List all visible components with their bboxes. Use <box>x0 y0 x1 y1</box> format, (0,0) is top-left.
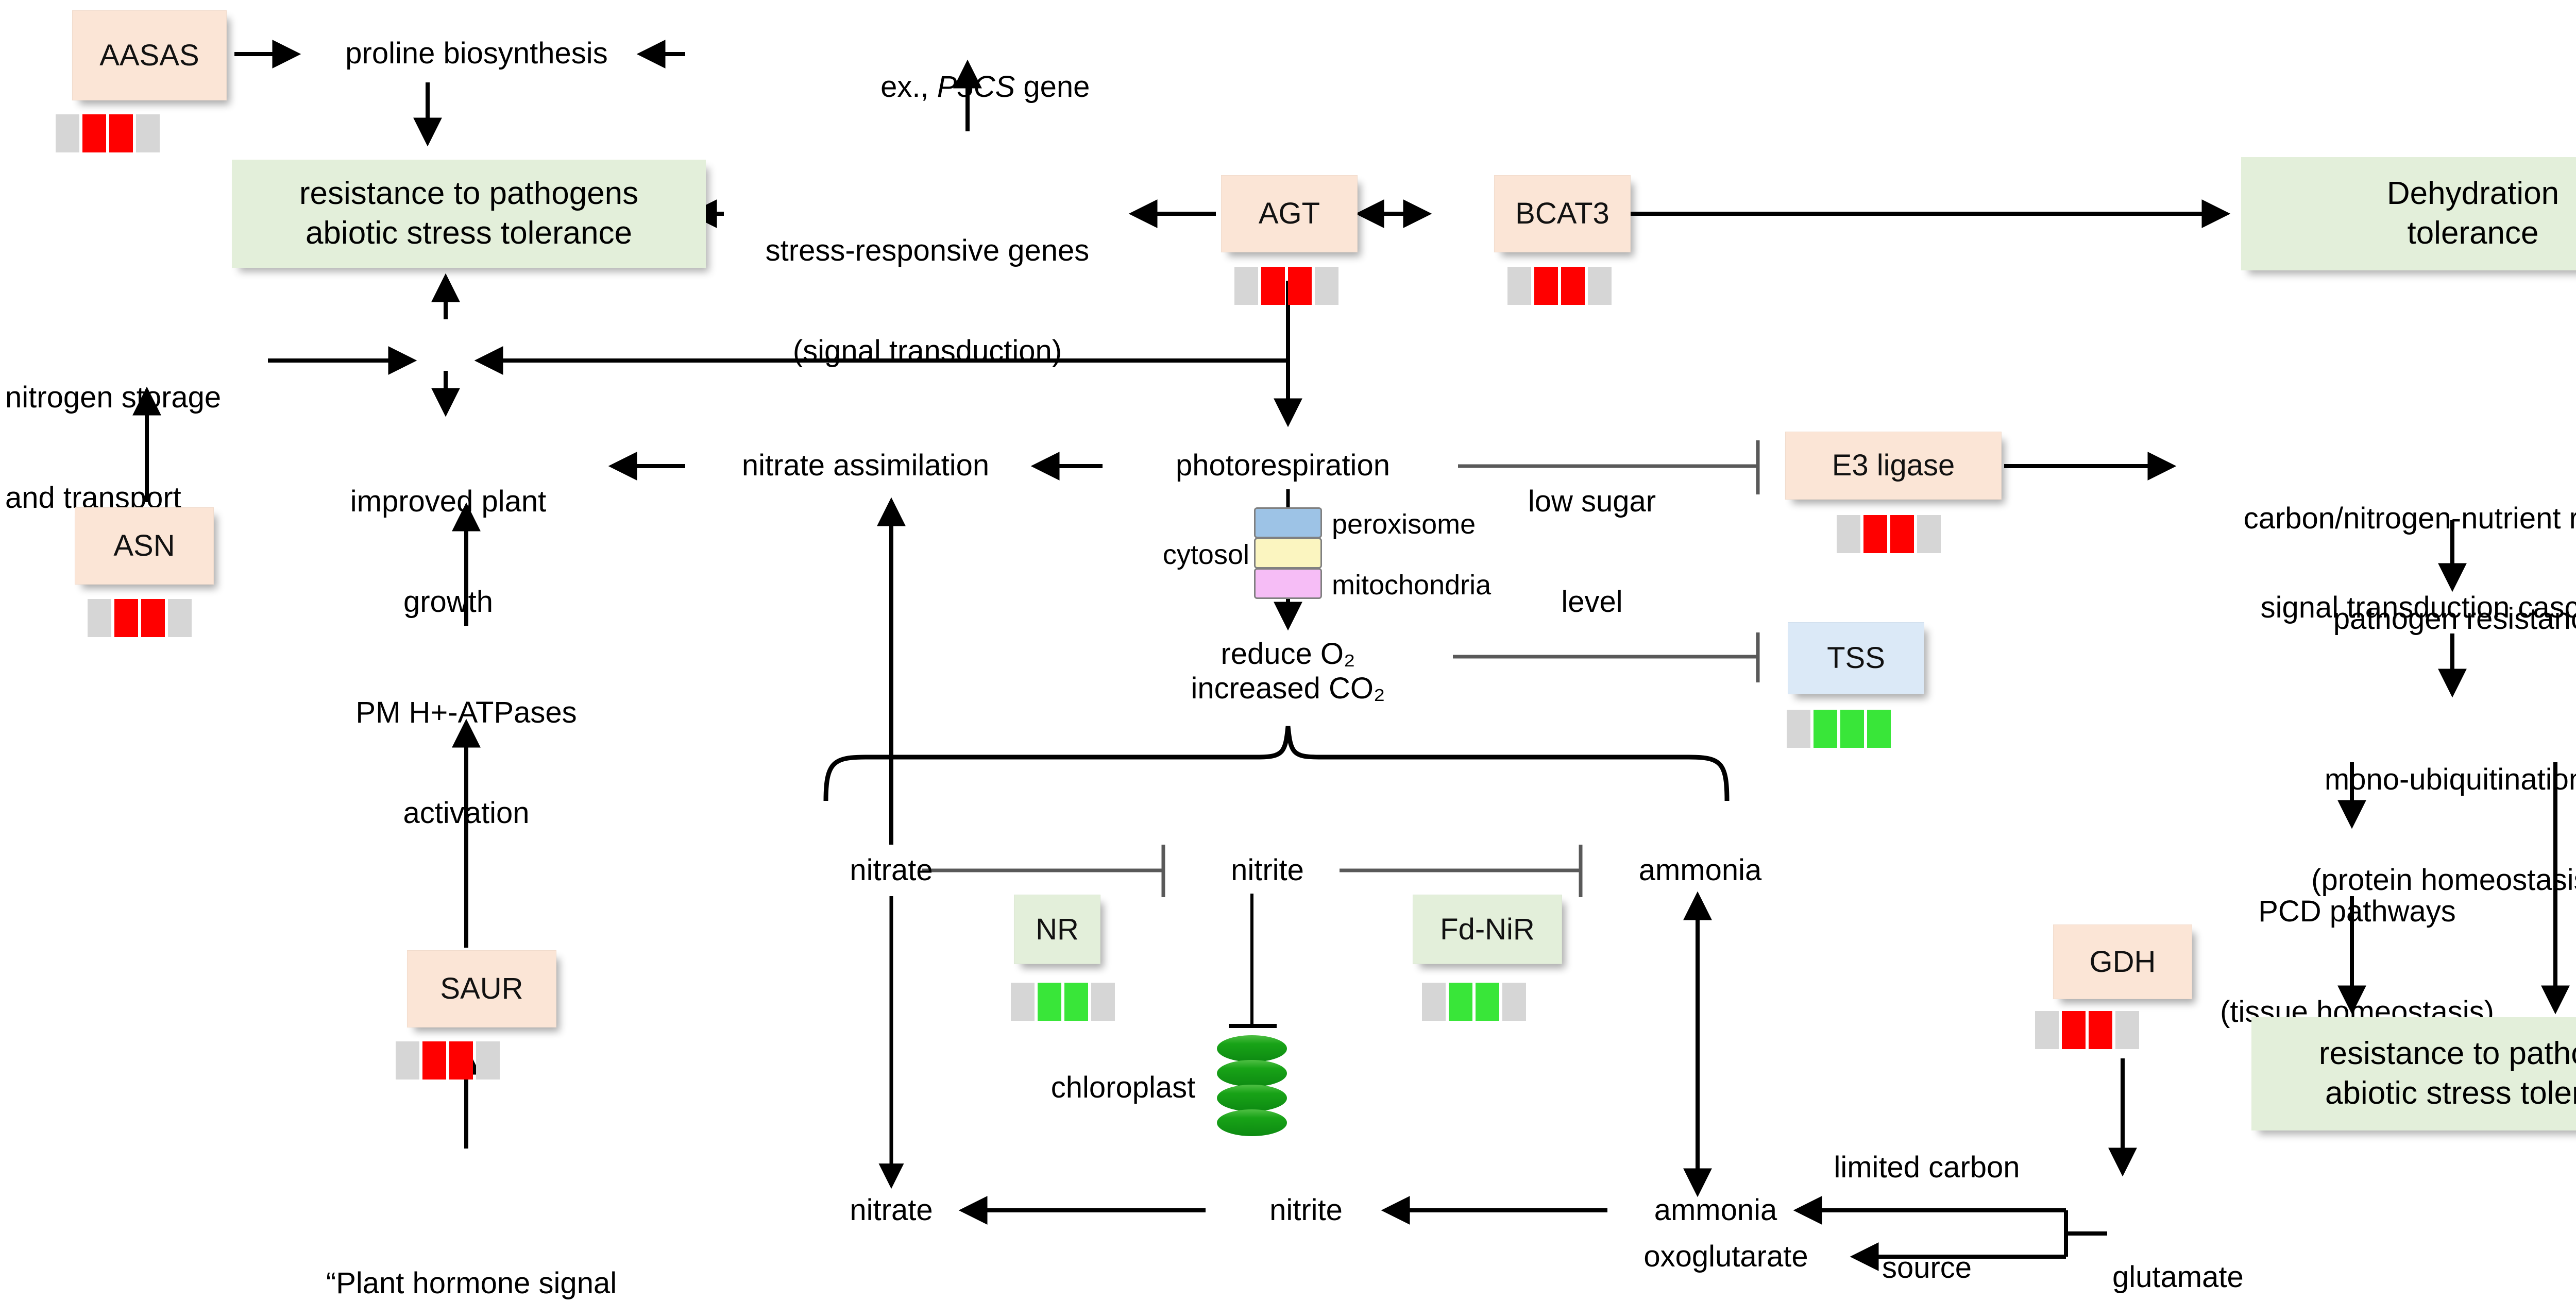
expression-strip-nr <box>1011 983 1115 1021</box>
label-plant-hormone-pathway: “Plant hormone signal transduction” path… <box>289 1200 654 1302</box>
swatch-cell <box>476 1041 500 1080</box>
chloroplast-icon <box>1217 1035 1287 1144</box>
gene-box-tss[interactable]: TSS <box>1788 622 1924 694</box>
growth-line1: improved plant <box>319 485 577 519</box>
nstorage-line1: nitrogen storage <box>5 381 278 415</box>
expression-strip-aasas <box>56 114 160 152</box>
pcd-line1: PCD pathways <box>2154 895 2561 929</box>
swatch-cell <box>136 114 160 152</box>
gene-box-gdh[interactable]: GDH <box>2053 924 2192 999</box>
swatch-cell <box>2062 1011 2086 1049</box>
swatch-cell <box>1917 515 1941 553</box>
grana-disc <box>1217 1035 1287 1062</box>
swatch-cell <box>1502 983 1526 1021</box>
label-stress-responsive-genes: stress-responsive genes (signal transduc… <box>737 167 1118 435</box>
resistance-b-line1: resistance to pathogens <box>2319 1034 2576 1074</box>
brace-co2-to-nitrogen-row <box>826 726 1727 801</box>
swatch-cell <box>2115 1011 2139 1049</box>
grana-disc <box>1217 1060 1287 1087</box>
label-nitrate-mid: nitrate <box>796 854 987 887</box>
grana-disc <box>1217 1085 1287 1111</box>
swatch-cell <box>396 1041 419 1080</box>
gene-box-saur[interactable]: SAUR <box>407 950 556 1027</box>
swatch-cell <box>2035 1011 2059 1049</box>
gene-box-e3-ligase[interactable]: E3 ligase <box>1785 432 2002 500</box>
growth-line2: growth <box>319 586 577 619</box>
swatch-cell <box>1261 267 1285 305</box>
hormone-line1: “Plant hormone signal <box>289 1267 654 1300</box>
label-signal-transduction-cascades: signal transduction cascades <box>2154 591 2576 625</box>
outcome-box-resistance-bottom: resistance to pathogens abiotic stress t… <box>2251 1017 2576 1130</box>
legend-box-cytosol <box>1254 538 1322 569</box>
glutamate-line1: glutamate <box>2112 1261 2401 1294</box>
swatch-cell <box>141 599 165 637</box>
gene-box-asn[interactable]: ASN <box>75 507 214 585</box>
expression-strip-asn <box>88 599 192 637</box>
swatch-cell <box>1476 983 1499 1021</box>
label-nitrite-bottom: nitrite <box>1218 1194 1394 1227</box>
swatch-cell <box>1315 267 1338 305</box>
swatch-cell <box>114 599 138 637</box>
label-low-sugar-level: low sugar level <box>1484 418 1700 686</box>
swatch-cell <box>1038 983 1061 1021</box>
expression-strip-bcat3 <box>1507 267 1612 305</box>
ubi-line1: mono-ubiquitination <box>2159 763 2576 797</box>
label-ammonia-mid: ammonia <box>1597 854 1803 887</box>
label-cytosol: cytosol <box>1110 539 1249 570</box>
swatch-cell <box>88 599 111 637</box>
carbon-line1: limited carbon <box>1793 1151 2061 1185</box>
label-p5cs-gene: ex., P5CS gene <box>819 37 1118 138</box>
label-glutamate-deamination: glutamate deamination <box>2112 1194 2401 1302</box>
resistance-b-line2: abiotic stress tolerance <box>2319 1074 2576 1113</box>
swatch-cell <box>56 114 79 152</box>
grana-disc <box>1217 1109 1287 1136</box>
label-ammonia-bottom: ammonia <box>1613 1194 1819 1227</box>
swatch-cell <box>1422 983 1446 1021</box>
dehydration-line1: Dehydration <box>2387 174 2559 214</box>
expression-strip-e3-ligase <box>1837 515 1941 553</box>
swatch-cell <box>1064 983 1088 1021</box>
label-chloroplast: chloroplast <box>1020 1071 1226 1105</box>
srg-line2: (signal transduction) <box>737 335 1118 368</box>
gene-box-nr[interactable]: NR <box>1014 895 1100 964</box>
swatch-cell <box>1507 267 1531 305</box>
swatch-cell <box>1890 515 1914 553</box>
swatch-cell <box>1234 267 1258 305</box>
gene-box-aasas[interactable]: AASAS <box>72 10 227 100</box>
expression-strip-tss <box>1787 710 1891 748</box>
label-mitochondria: mitochondria <box>1332 570 1574 601</box>
swatch-cell <box>1011 983 1035 1021</box>
swatch-cell <box>1091 983 1115 1021</box>
swatch-cell <box>168 599 192 637</box>
legend-box-peroxisome <box>1254 507 1322 538</box>
label-photorespiration: photorespiration <box>1110 449 1455 483</box>
swatch-cell <box>82 114 106 152</box>
swatch-cell <box>1561 267 1585 305</box>
label-cn-nutrient-response: carbon/nitrogen-nutrient response pathog… <box>2182 435 2576 703</box>
expression-strip-fd-nir <box>1422 983 1526 1021</box>
atpase-line2: activation <box>322 797 611 830</box>
swatch-cell <box>1867 710 1891 748</box>
outcome-line2: abiotic stress tolerance <box>299 214 638 253</box>
swatch-cell <box>449 1041 473 1080</box>
p5cs-prefix: ex., <box>880 70 937 104</box>
outcome-box-dehydration-tolerance: Dehydration tolerance <box>2241 157 2576 270</box>
expression-strip-gdh <box>2035 1011 2139 1049</box>
swatch-cell <box>109 114 133 152</box>
pathway-diagram-canvas: AASAS proline biosynthesis ex., P5CS gen… <box>0 0 2576 1302</box>
gene-box-fd-nir[interactable]: Fd-NiR <box>1413 895 1562 964</box>
dehydration-line2: tolerance <box>2387 214 2559 253</box>
swatch-cell <box>422 1041 446 1080</box>
gene-box-agt[interactable]: AGT <box>1221 175 1358 252</box>
label-nitrate-assimilation: nitrate assimilation <box>701 449 1030 483</box>
label-pm-h-atpases: PM H+-ATPases activation <box>322 629 611 897</box>
label-proline-biosynthesis: proline biosynthesis <box>312 37 641 71</box>
swatch-cell <box>1814 710 1837 748</box>
label-nitrite-mid: nitrite <box>1180 854 1355 887</box>
swatch-cell <box>1837 515 1860 553</box>
swatch-cell <box>1863 515 1887 553</box>
expression-strip-agt <box>1234 267 1338 305</box>
outcome-line1: resistance to pathogens <box>299 174 638 214</box>
gene-box-bcat3[interactable]: BCAT3 <box>1494 175 1631 252</box>
legend-box-mitochondria <box>1254 568 1322 599</box>
swatch-cell <box>1787 710 1810 748</box>
label-oxoglutarate-bottom: oxoglutarate <box>1587 1240 1865 1274</box>
swatch-cell <box>2089 1011 2112 1049</box>
swatch-cell <box>1534 267 1558 305</box>
swatch-cell <box>1449 983 1472 1021</box>
outcome-box-resistance-top: resistance to pathogens abiotic stress t… <box>232 160 706 268</box>
p5cs-gene-name: P5CS <box>937 70 1015 104</box>
swatch-cell <box>1840 710 1864 748</box>
cn-line1: carbon/nitrogen-nutrient response <box>2182 502 2576 536</box>
expression-strip-saur <box>396 1041 500 1080</box>
label-nitrate-bottom: nitrate <box>796 1194 987 1227</box>
p5cs-suffix: gene <box>1015 70 1090 104</box>
label-reduce-o2: reduce O₂ <box>1139 638 1437 671</box>
swatch-cell <box>1288 267 1312 305</box>
srg-line1: stress-responsive genes <box>737 234 1118 268</box>
label-increased-co2: increased CO₂ <box>1139 672 1437 706</box>
atpase-line1: PM H+-ATPases <box>322 696 611 730</box>
swatch-cell <box>1588 267 1612 305</box>
label-peroxisome: peroxisome <box>1332 509 1558 540</box>
